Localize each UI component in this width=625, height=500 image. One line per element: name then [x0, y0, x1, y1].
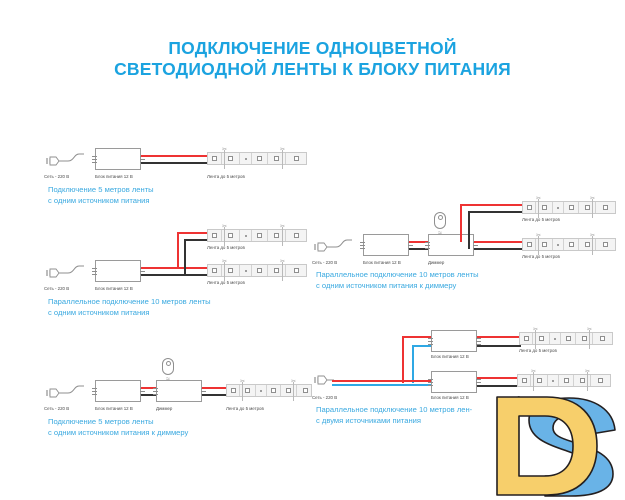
- led-strip-top: ✂ ✂: [522, 201, 616, 214]
- strip-segment: [591, 375, 610, 386]
- remote-control-icon: [162, 358, 174, 375]
- led-chip: [580, 378, 585, 383]
- led-chip: [257, 156, 262, 161]
- led-strip: ✂ ✂: [226, 384, 312, 397]
- led-chip: [257, 233, 262, 238]
- solder-pad: [245, 235, 247, 237]
- wire-negative-out: [474, 248, 526, 250]
- mains-plug-icon: [44, 152, 84, 170]
- strip-segment: [596, 239, 615, 250]
- psu-terminals-left: [92, 151, 97, 167]
- led-chip: [542, 242, 547, 247]
- mains-wire-live-top: [402, 336, 431, 338]
- led-chip: [212, 156, 217, 161]
- strip-segment: [593, 333, 612, 344]
- strip-segment: ✂: [268, 230, 286, 241]
- remote-control-icon: [434, 212, 446, 229]
- wire-negative: [141, 274, 209, 276]
- label-led-strip-bottom: Лента до 5 метров: [522, 254, 560, 260]
- strip-segment: [227, 385, 240, 396]
- wire-positive: [141, 155, 209, 157]
- strip-segment: [550, 333, 561, 344]
- led-strip: ✂ ✂: [207, 152, 307, 165]
- led-chip: [585, 205, 590, 210]
- psu-terminals-left: [92, 263, 97, 279]
- led-chip: [527, 242, 532, 247]
- mains-plug-icon: [44, 384, 84, 402]
- mains-wire-neutral-top: [412, 345, 431, 347]
- strip-segment: ✂: [536, 202, 553, 213]
- caption-line: с одним источником питания: [48, 196, 154, 207]
- scissors-icon: ✂: [291, 379, 296, 385]
- strip-segment: ✂: [533, 333, 550, 344]
- strip-segment: ✂: [579, 202, 596, 213]
- caption-line: Параллельное подключение 10 метров лен-: [316, 405, 472, 416]
- scissors-icon: ✂: [585, 369, 590, 375]
- wire-negative-branch: [468, 211, 470, 249]
- strip-segment: [553, 239, 564, 250]
- led-chip: [274, 233, 279, 238]
- psu-terminals-right: [408, 237, 413, 253]
- caption-line: с двумя источниками питания: [316, 416, 472, 427]
- mains-wire-live-vertical: [402, 336, 404, 383]
- led-chip: [294, 268, 299, 273]
- mains-wire-neutral: [332, 384, 431, 386]
- wire-positive-branch: [460, 204, 462, 242]
- led-chip: [582, 336, 587, 341]
- dimmer-terminals-left: [425, 237, 430, 253]
- strip-segment: [252, 265, 268, 276]
- wire-negative-top-out: [477, 345, 521, 347]
- strip-segment: ✂: [579, 239, 596, 250]
- caption-line: с одним источником питания к диммеру: [48, 428, 188, 439]
- label-led-strip-top: Лента до 5 метров: [207, 245, 245, 251]
- wire-negative: [141, 162, 209, 164]
- strip-segment: [286, 230, 306, 241]
- strip-segment: [596, 202, 615, 213]
- led-chip: [228, 156, 233, 161]
- scissors-icon: ✂: [587, 327, 592, 333]
- caption-line: Параллельное подключение 10 метров ленты: [316, 270, 479, 281]
- led-chip: [245, 388, 250, 393]
- wire-positive-out: [202, 387, 228, 389]
- power-supply-box: [95, 148, 141, 170]
- led-strip-bottom: ✂ ✂: [522, 238, 616, 251]
- strip-segment: ✂: [268, 265, 286, 276]
- wire-positive-branch: [177, 232, 179, 268]
- strip-segment: [548, 375, 559, 386]
- led-chip: [569, 242, 574, 247]
- wire-positive-out: [474, 241, 526, 243]
- led-chip: [522, 378, 527, 383]
- led-strip-top: ✂ ✂: [207, 229, 307, 242]
- solder-pad: [557, 244, 559, 246]
- label-power-supply-bottom: Блок питания 12 В: [431, 395, 469, 401]
- solder-pad: [552, 380, 554, 382]
- strip-segment: ✂: [574, 375, 591, 386]
- remote-button: [166, 361, 171, 366]
- strip-segment: [553, 202, 564, 213]
- wire-positive-top-out: [477, 336, 521, 338]
- led-strip-top: ✂ ✂: [519, 332, 613, 345]
- dimmer-terminals-right: [201, 383, 206, 399]
- psu-terminals-left: [360, 237, 365, 253]
- led-chip: [600, 336, 605, 341]
- diagram-5-caption: Параллельное подключение 10 метров лен- …: [316, 405, 472, 426]
- power-supply-box: [95, 380, 141, 402]
- strip-segment: [286, 265, 306, 276]
- led-chip: [294, 156, 299, 161]
- strip-segment: ✂: [268, 153, 286, 164]
- title-line-2: СВЕТОДИОДНОЙ ЛЕНТЫ К БЛОКУ ПИТАНИЯ: [0, 59, 625, 80]
- wire-positive-bottom-out: [477, 377, 519, 379]
- scissors-icon: ✂: [590, 196, 595, 202]
- scissors-icon: ✂: [280, 259, 285, 265]
- caption-line: Подключение 5 метров ленты: [48, 417, 188, 428]
- diagram-1-caption: Подключение 5 метров ленты с одним источ…: [48, 185, 154, 206]
- strip-segment: ✂: [576, 333, 593, 344]
- strip-segment: [252, 230, 268, 241]
- strip-segment: [267, 385, 281, 396]
- led-chip: [212, 268, 217, 273]
- led-chip: [539, 336, 544, 341]
- strip-segment: [240, 265, 252, 276]
- diagram-1: ✂ ✂ Сеть - 220 В Блок питания 12 В Лента…: [44, 148, 314, 210]
- power-supply-box-top: [431, 330, 477, 352]
- led-chip: [257, 268, 262, 273]
- wire-positive: [141, 267, 209, 269]
- led-chip: [294, 233, 299, 238]
- solder-pad: [245, 158, 247, 160]
- label-power-supply: Блок питания 12 В: [95, 286, 133, 292]
- strip-segment: [523, 202, 536, 213]
- scissors-icon: ✂: [533, 327, 538, 333]
- wire-negative-top: [184, 239, 209, 241]
- label-power-supply-top: Блок питания 12 В: [431, 354, 469, 360]
- strip-segment: ✂: [222, 265, 240, 276]
- label-led-strip: Лента до 5 метров: [207, 174, 245, 180]
- remote-button: [438, 215, 443, 220]
- scissors-icon: ✂: [222, 147, 227, 153]
- scissors-icon: ✂: [536, 233, 541, 239]
- mains-plug-icon: [44, 264, 84, 282]
- wire-negative-top: [468, 211, 524, 213]
- power-supply-box: [95, 260, 141, 282]
- strip-segment: [256, 385, 267, 396]
- label-mains: Сеть - 220 В: [44, 174, 69, 180]
- label-mains: Сеть - 220 В: [44, 286, 69, 292]
- scissors-icon: ✂: [531, 369, 536, 375]
- label-power-supply: Блок питания 12 В: [95, 174, 133, 180]
- led-strip-bottom: ✂ ✂: [207, 264, 307, 277]
- led-chip: [585, 242, 590, 247]
- caption-line: с одним источником питания к диммеру: [316, 281, 479, 292]
- solder-pad: [554, 338, 556, 340]
- strip-segment: [286, 153, 306, 164]
- page-title: ПОДКЛЮЧЕНИЕ ОДНОЦВЕТНОЙ СВЕТОДИОДНОЙ ЛЕН…: [0, 38, 625, 80]
- scissors-icon: ✂: [280, 224, 285, 230]
- psu-bottom-terminals-left: [428, 374, 433, 390]
- label-mains: Сеть - 220 В: [312, 395, 337, 401]
- strip-segment: [208, 265, 222, 276]
- diagram-3-caption: Подключение 5 метров ленты с одним источ…: [48, 417, 188, 438]
- caption-line: Параллельное подключение 10 метров ленты: [48, 297, 211, 308]
- led-strip-bottom: ✂ ✂: [517, 374, 611, 387]
- label-dimmer: Диммер: [428, 260, 444, 266]
- led-chip: [524, 336, 529, 341]
- wire-positive-top: [177, 232, 209, 234]
- strip-segment: ✂: [281, 385, 297, 396]
- power-supply-box: [363, 234, 409, 256]
- caption-line: с одним источником питания: [48, 308, 211, 319]
- led-chip: [564, 378, 569, 383]
- psu-terminals-right: [140, 383, 145, 399]
- strip-segment: [240, 230, 252, 241]
- wire-negative-branch: [184, 239, 186, 275]
- diagram-2-caption: Параллельное подключение 10 метров ленты…: [48, 297, 211, 318]
- led-chip: [228, 233, 233, 238]
- strip-segment: [240, 153, 252, 164]
- led-chip: [271, 388, 276, 393]
- strip-segment: ✂: [536, 239, 553, 250]
- strip-segment: [518, 375, 531, 386]
- mains-plug-icon: [312, 238, 352, 256]
- led-chip: [569, 205, 574, 210]
- strip-segment: [297, 385, 313, 396]
- led-chip: [598, 378, 603, 383]
- scissors-icon: ✂: [590, 233, 595, 239]
- strip-segment: ✂: [240, 385, 256, 396]
- strip-segment: [564, 202, 579, 213]
- dimmer-box: [156, 380, 202, 402]
- led-chip: [228, 268, 233, 273]
- scissors-icon: ✂: [280, 147, 285, 153]
- led-chip: [603, 242, 608, 247]
- led-chip: [212, 233, 217, 238]
- solder-pad: [557, 207, 559, 209]
- led-chip: [542, 205, 547, 210]
- led-chip: [231, 388, 236, 393]
- led-chip: [274, 268, 279, 273]
- strip-segment: [520, 333, 533, 344]
- psu-terminals-right: [140, 151, 145, 167]
- dimmer-terminals-left: [153, 383, 158, 399]
- mains-wire-neutral-vertical: [412, 345, 414, 383]
- diagram-4-caption: Параллельное подключение 10 метров ленты…: [316, 270, 479, 291]
- strip-segment: [208, 153, 222, 164]
- psu-terminals-left: [92, 383, 97, 399]
- diagram-4: ≈ ✂ ✂: [312, 208, 612, 298]
- infographic-page: ПОДКЛЮЧЕНИЕ ОДНОЦВЕТНОЙ СВЕТОДИОДНОЙ ЛЕН…: [0, 0, 625, 500]
- ds-logo: [491, 394, 619, 498]
- scissors-icon: ✂: [536, 196, 541, 202]
- led-chip: [286, 388, 291, 393]
- power-supply-box-bottom: [431, 371, 477, 393]
- strip-segment: [208, 230, 222, 241]
- scissors-icon: ✂: [222, 224, 227, 230]
- led-chip: [566, 336, 571, 341]
- label-dimmer: Диммер: [156, 406, 172, 412]
- label-led-strip-bottom: Лента до 5 метров: [207, 280, 245, 286]
- led-chip: [603, 205, 608, 210]
- label-led-strip: Лента до 5 метров: [226, 406, 264, 412]
- led-chip: [303, 388, 308, 393]
- wire-negative-bottom-out: [477, 385, 519, 387]
- label-mains: Сеть - 220 В: [312, 260, 337, 266]
- strip-segment: [559, 375, 574, 386]
- psu-terminals-right: [140, 263, 145, 279]
- mains-wire-live: [332, 380, 431, 382]
- title-line-1: ПОДКЛЮЧЕНИЕ ОДНОЦВЕТНОЙ: [0, 38, 625, 59]
- strip-segment: [252, 153, 268, 164]
- strip-segment: [523, 239, 536, 250]
- strip-segment: ✂: [531, 375, 548, 386]
- strip-segment: [561, 333, 576, 344]
- scissors-icon: ✂: [222, 259, 227, 265]
- dimmer-terminals-right: [473, 237, 478, 253]
- diagram-3: ≈ ✂ ✂ Сеть - 220 В: [44, 358, 314, 438]
- led-chip: [537, 378, 542, 383]
- strip-segment: ✂: [222, 153, 240, 164]
- label-power-supply: Блок питания 12 В: [95, 406, 133, 412]
- label-power-supply: Блок питания 12 В: [363, 260, 401, 266]
- solder-pad: [260, 390, 262, 392]
- strip-segment: ✂: [222, 230, 240, 241]
- caption-line: Подключение 5 метров ленты: [48, 185, 154, 196]
- label-led-strip-top: Лента до 5 метров: [519, 348, 557, 354]
- strip-segment: [564, 239, 579, 250]
- label-led-strip-top: Лента до 5 метров: [522, 217, 560, 223]
- led-chip: [527, 205, 532, 210]
- solder-pad: [245, 270, 247, 272]
- diagram-2: ✂ ✂ Лента до 5 метров ✂ ✂ Сеть - 220 В Б…: [44, 228, 314, 324]
- led-chip: [274, 156, 279, 161]
- label-mains: Сеть - 220 В: [44, 406, 69, 412]
- wire-negative-out: [202, 394, 228, 396]
- scissors-icon: ✂: [240, 379, 245, 385]
- wire-positive-top: [460, 204, 524, 206]
